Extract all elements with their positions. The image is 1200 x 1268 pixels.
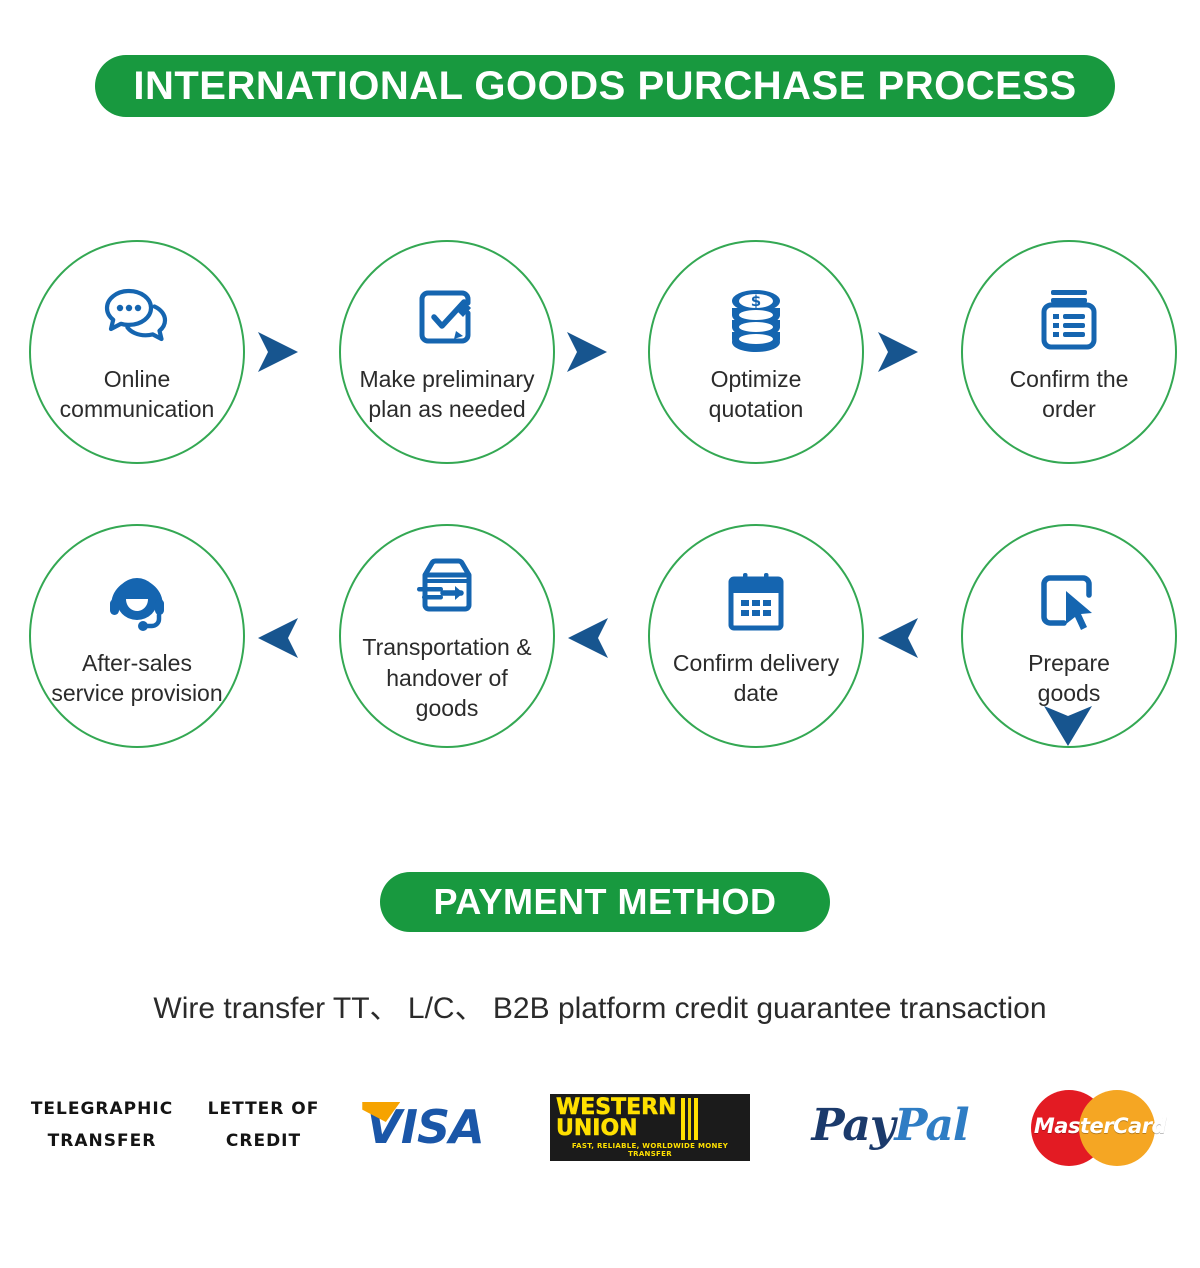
arrow-right-icon: [561, 328, 613, 381]
process-flow-diagram: Onlinecommunication Make preliminaryplan…: [0, 228, 1200, 768]
process-step-after-sales-service: After-salesservice provision: [29, 524, 245, 748]
process-step-label: After-salesservice provision: [37, 648, 237, 709]
paypal-logo: PayPal: [785, 1093, 995, 1157]
process-step-optimize-quotation: $ Optimizequotation: [648, 240, 864, 464]
letter-of-credit-logo: LETTER OF CREDIT: [196, 1093, 331, 1158]
arrow-left-icon: [252, 614, 304, 667]
process-step-confirm-delivery-date: Confirm deliverydate: [648, 524, 864, 748]
arrow-right-icon: [252, 328, 304, 381]
svg-text:$: $: [751, 292, 761, 310]
process-step-label: Optimizequotation: [656, 364, 856, 425]
payment-methods-description: Wire transfer TT、 L/C、 B2B platform cred…: [0, 983, 1200, 1027]
mastercard-wordmark: MasterCard: [1025, 1114, 1175, 1138]
tt-line1: TELEGRAPHIC: [31, 1093, 173, 1125]
calendar-icon: [724, 564, 788, 642]
arrow-down-icon: [1040, 700, 1096, 755]
process-step-online-communication: Onlinecommunication: [29, 240, 245, 464]
page-title-banner: INTERNATIONAL GOODS PURCHASE PROCESS: [95, 55, 1115, 117]
process-step-make-preliminary-plan: Make preliminaryplan as needed: [339, 240, 555, 464]
payment-method-banner: PAYMENT METHOD: [380, 872, 830, 932]
headset-support-icon: [102, 564, 172, 642]
lc-line2: CREDIT: [208, 1125, 320, 1157]
process-step-label: Make preliminaryplan as needed: [347, 364, 547, 425]
payment-logo-strip: TELEGRAPHIC TRANSFER LETTER OF CREDIT VI…: [0, 1085, 1200, 1185]
page-title: INTERNATIONAL GOODS PURCHASE PROCESS: [133, 64, 1076, 109]
process-step-label: Confirm theorder: [969, 364, 1169, 425]
paypal-part1: Pay: [811, 1100, 894, 1151]
process-step-label: Onlinecommunication: [37, 364, 237, 425]
coin-stack-dollar-icon: $: [725, 280, 787, 358]
payment-method-title: PAYMENT METHOD: [433, 881, 776, 923]
mastercard-logo: MasterCard: [1020, 1087, 1180, 1169]
lc-line1: LETTER OF: [208, 1093, 320, 1125]
paypal-part2: Pal: [894, 1100, 968, 1151]
process-step-transportation-handover: Transportation &handover ofgoods: [339, 524, 555, 748]
visa-logo: VISA: [345, 1095, 505, 1159]
order-list-icon: [1038, 280, 1100, 358]
arrow-left-icon: [872, 614, 924, 667]
process-step-label: Confirm deliverydate: [656, 648, 856, 709]
chat-bubbles-icon: [102, 280, 172, 358]
wu-line2: UNION: [556, 1119, 677, 1140]
tt-line2: TRANSFER: [31, 1125, 173, 1157]
arrow-right-icon: [872, 328, 924, 381]
process-step-confirm-the-order: Confirm theorder: [961, 240, 1177, 464]
arrow-left-icon: [562, 614, 614, 667]
telegraphic-transfer-logo: TELEGRAPHIC TRANSFER: [22, 1093, 182, 1158]
process-step-label: Transportation &handover ofgoods: [347, 632, 547, 723]
checklist-edit-icon: [416, 280, 478, 358]
wu-tagline: FAST, RELIABLE, WORLDWIDE MONEY TRANSFER: [556, 1142, 744, 1158]
shipping-box-arrow-icon: [413, 548, 481, 626]
wu-bars-icon: [681, 1098, 698, 1140]
cursor-select-icon: [1037, 564, 1101, 642]
western-union-logo: WESTERN UNION FAST, RELIABLE, WORLDWIDE …: [550, 1093, 750, 1161]
